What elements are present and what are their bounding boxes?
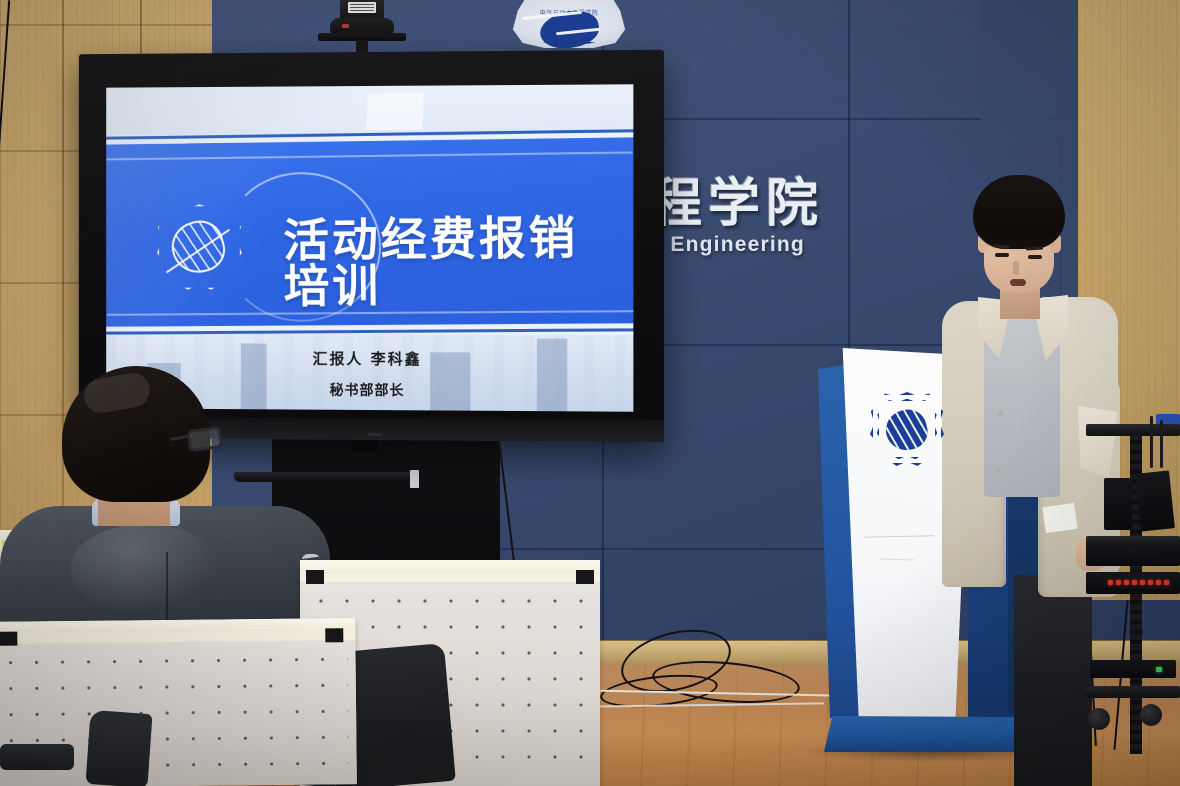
presentation-slide: 活动经费报销培训 汇报人 李科鑫 秘书部部长 2026年4月12日 <box>106 84 633 411</box>
chair-left-seat[interactable] <box>0 744 74 770</box>
presenter-hair-fringe <box>975 199 1063 233</box>
slide-title: 活动经费报销培训 <box>283 214 622 309</box>
podium-school-crest-icon <box>870 392 944 466</box>
presenter-eye-left <box>995 253 1009 257</box>
presenter-mouth <box>1010 279 1026 286</box>
rack-mixer-unit[interactable] <box>1086 546 1180 566</box>
antenna-icon <box>1160 420 1163 468</box>
slide-header-watermark <box>366 94 423 130</box>
presenter-nose <box>1013 261 1019 275</box>
av-equipment-rack <box>1086 424 1180 754</box>
rack-caster-wheel <box>1088 708 1110 730</box>
rack-monitor-unit <box>1104 478 1132 530</box>
chair-left[interactable] <box>85 710 152 786</box>
tv-power-indicator-icon <box>368 433 382 436</box>
rack-player-unit[interactable] <box>1090 660 1176 678</box>
camera-led-icon <box>342 24 349 28</box>
ptz-camera <box>318 0 406 52</box>
presenter-eye-right <box>1028 255 1042 259</box>
antenna-icon <box>1150 416 1153 468</box>
presenter-notes-paper <box>1042 503 1077 533</box>
camera-label-sticker <box>348 2 376 13</box>
camera-base <box>330 18 394 34</box>
rack-caster-wheel <box>1140 704 1162 726</box>
wall-outlet-plate <box>410 470 419 488</box>
wall-sign-english: r Engineering <box>654 233 805 257</box>
rack-led-indicators <box>1108 580 1169 585</box>
lecture-hall-photo: 电气与动力工程学院 程学院 r Engineering <box>0 0 1180 786</box>
slide-band-accent-line-top <box>106 151 632 160</box>
wall-university-emblem-icon: 电气与动力工程学院 <box>508 0 630 48</box>
rack-monitor-unit <box>1135 470 1175 531</box>
tv-mount-pole <box>352 438 378 452</box>
school-crest-logo-icon <box>157 204 242 290</box>
slide-header-band <box>106 84 633 135</box>
presenter-trousers <box>1014 575 1092 786</box>
eyeglasses-icon <box>187 426 224 453</box>
wall-sign-chinese: 程学院 <box>650 178 824 230</box>
rack-standby-led-icon <box>1156 667 1162 672</box>
